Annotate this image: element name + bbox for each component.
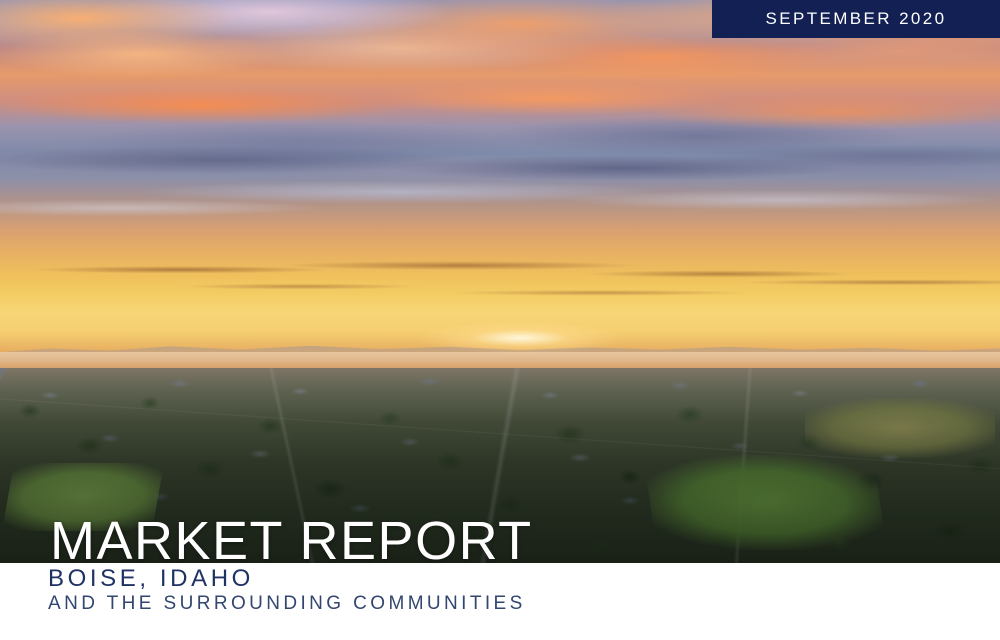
hero-photo [0, 0, 1000, 563]
date-banner-label: SEPTEMBER 2020 [766, 9, 947, 29]
subtitle-communities: AND THE SURROUNDING COMMUNITIES [48, 592, 526, 616]
footer-subtitles: BOISE, IDAHO AND THE SURROUNDING COMMUNI… [48, 566, 526, 616]
park-field-far-right [805, 398, 995, 458]
park-field-right [643, 455, 886, 550]
date-banner: SEPTEMBER 2020 [712, 0, 1000, 38]
footer-band: BOISE, IDAHO AND THE SURROUNDING COMMUNI… [0, 563, 1000, 640]
page-title: MARKET REPORT [50, 514, 533, 568]
report-cover-page: SEPTEMBER 2020 MARKET REPORT BOISE, IDAH… [0, 0, 1000, 640]
